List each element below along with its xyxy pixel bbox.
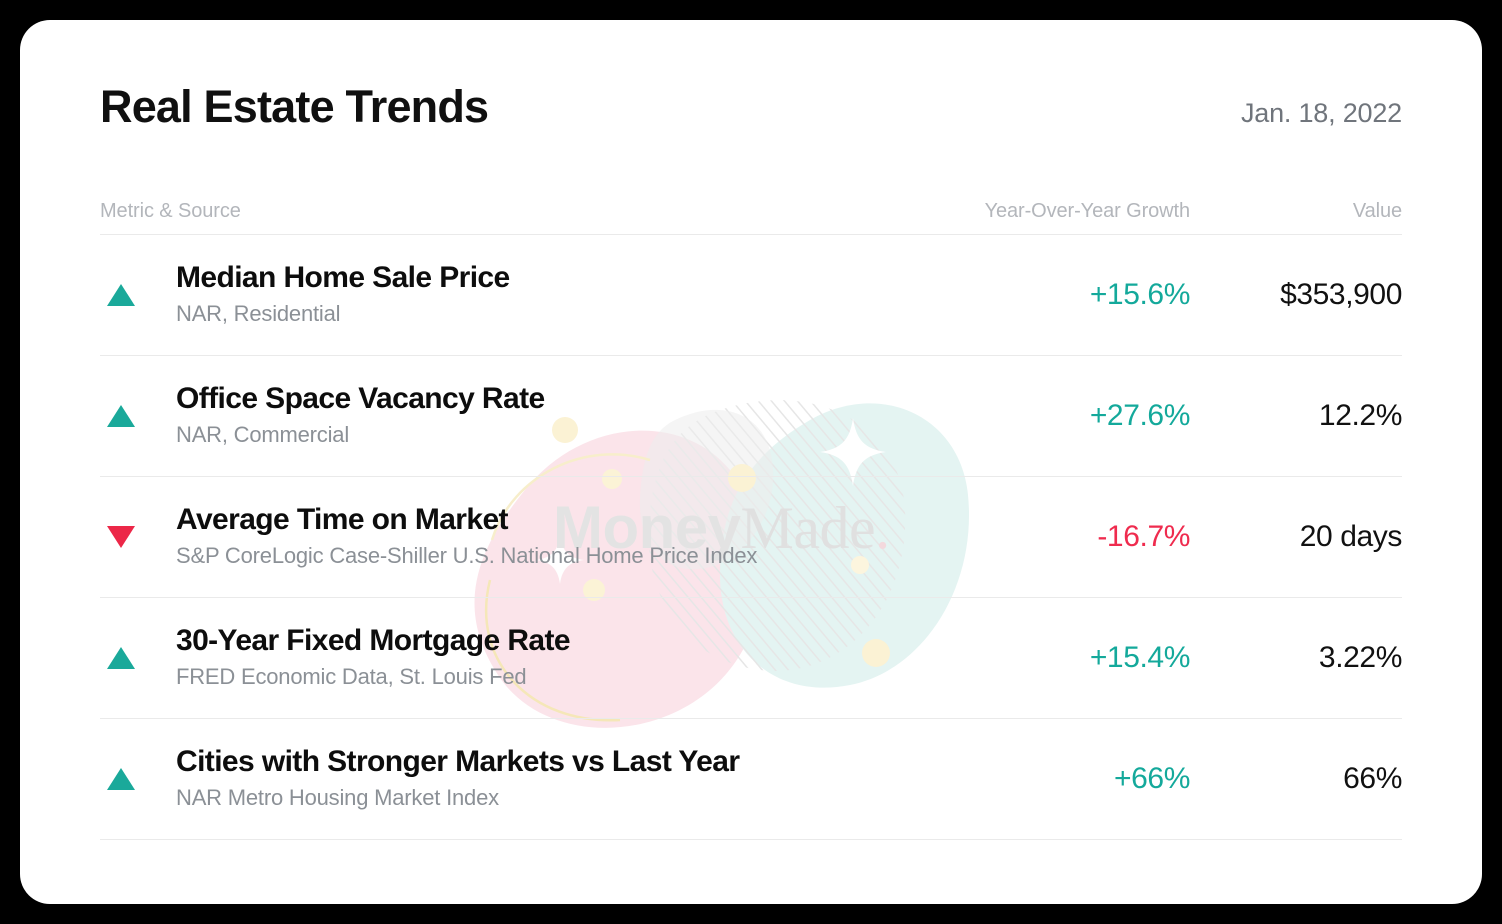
metric-text: Cities with Stronger Markets vs Last Yea… [142, 744, 739, 814]
metric-text: Office Space Vacancy Rate NAR, Commercia… [142, 381, 545, 451]
table-row[interactable]: 30-Year Fixed Mortgage Rate FRED Economi… [100, 597, 1402, 718]
screenshot-stage: MoneyMade. Real Estate Trends Jan. 18, 2… [0, 0, 1502, 924]
triangle-up-icon [100, 405, 142, 427]
metric-text: Average Time on Market S&P CoreLogic Cas… [142, 502, 757, 572]
metric-cell: Office Space Vacancy Rate NAR, Commercia… [100, 381, 880, 451]
triangle-down-icon [100, 526, 142, 548]
metric-cell: Median Home Sale Price NAR, Residential [100, 260, 880, 330]
triangle-up-icon [100, 284, 142, 306]
metric-name: Average Time on Market [176, 502, 757, 539]
metric-text: 30-Year Fixed Mortgage Rate FRED Economi… [142, 623, 570, 693]
metric-name: Median Home Sale Price [176, 260, 510, 297]
metric-name: 30-Year Fixed Mortgage Rate [176, 623, 570, 660]
growth-value: +27.6% [880, 399, 1190, 433]
metrics-table: Metric & Source Year-Over-Year Growth Va… [100, 188, 1402, 840]
metric-name: Cities with Stronger Markets vs Last Yea… [176, 744, 739, 781]
metric-cell: Cities with Stronger Markets vs Last Yea… [100, 744, 880, 814]
metric-value: 12.2% [1190, 399, 1402, 433]
table-row[interactable]: Cities with Stronger Markets vs Last Yea… [100, 718, 1402, 839]
metric-source: S&P CoreLogic Case-Shiller U.S. National… [176, 539, 757, 572]
metric-source: NAR, Commercial [176, 418, 545, 451]
metric-source: NAR Metro Housing Market Index [176, 781, 739, 814]
metric-value: 20 days [1190, 520, 1402, 554]
table-row[interactable]: Median Home Sale Price NAR, Residential … [100, 234, 1402, 355]
table-header-row: Metric & Source Year-Over-Year Growth Va… [100, 188, 1402, 234]
report-date: Jan. 18, 2022 [1241, 98, 1402, 129]
card-content: Real Estate Trends Jan. 18, 2022 Metric … [20, 20, 1482, 904]
metric-cell: 30-Year Fixed Mortgage Rate FRED Economi… [100, 623, 880, 693]
metric-cell: Average Time on Market S&P CoreLogic Cas… [100, 502, 880, 572]
column-header-metric: Metric & Source [100, 200, 880, 223]
column-header-value: Value [1190, 200, 1402, 223]
real-estate-trends-card: MoneyMade. Real Estate Trends Jan. 18, 2… [20, 20, 1482, 904]
triangle-up-icon [100, 647, 142, 669]
metric-value: $353,900 [1190, 278, 1402, 312]
metric-source: FRED Economic Data, St. Louis Fed [176, 660, 570, 693]
card-header: Real Estate Trends Jan. 18, 2022 [100, 82, 1402, 132]
table-row[interactable]: Office Space Vacancy Rate NAR, Commercia… [100, 355, 1402, 476]
growth-value: -16.7% [880, 520, 1190, 554]
table-row[interactable]: Average Time on Market S&P CoreLogic Cas… [100, 476, 1402, 597]
growth-value: +15.6% [880, 278, 1190, 312]
triangle-up-icon [100, 768, 142, 790]
page-title: Real Estate Trends [100, 82, 488, 132]
metric-source: NAR, Residential [176, 297, 510, 330]
metric-name: Office Space Vacancy Rate [176, 381, 545, 418]
growth-value: +15.4% [880, 641, 1190, 675]
metric-text: Median Home Sale Price NAR, Residential [142, 260, 510, 330]
metric-value: 3.22% [1190, 641, 1402, 675]
metric-value: 66% [1190, 762, 1402, 796]
column-header-growth: Year-Over-Year Growth [880, 200, 1190, 223]
growth-value: +66% [880, 762, 1190, 796]
table-bottom-divider [100, 839, 1402, 840]
